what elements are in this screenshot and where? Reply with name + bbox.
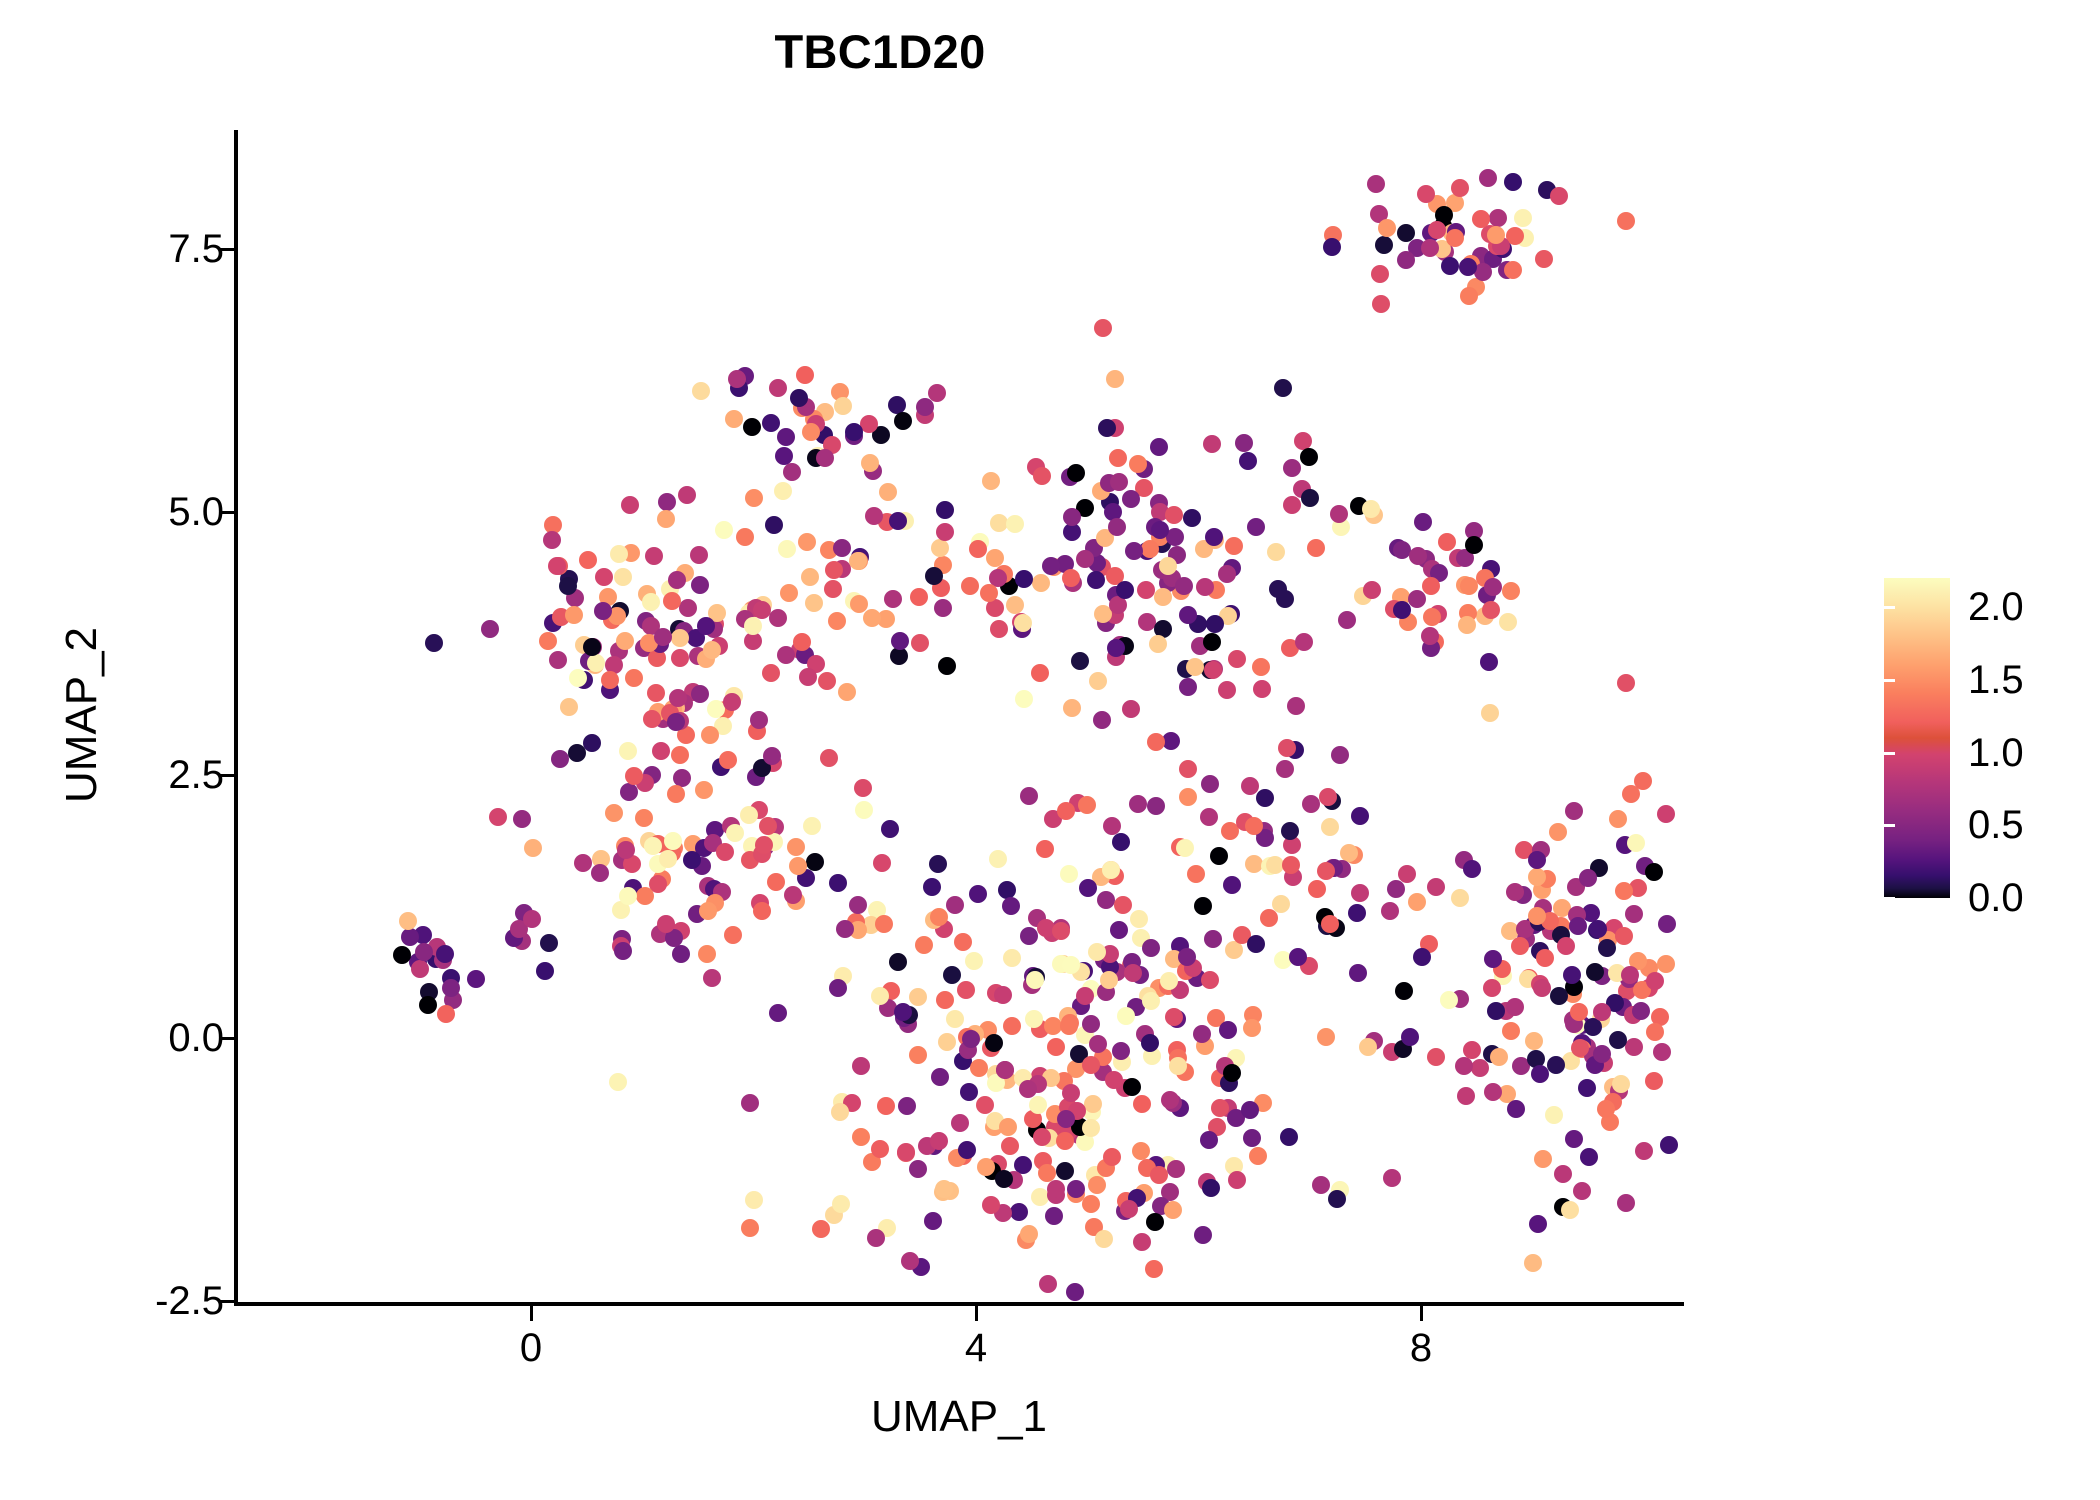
scatter-point (1031, 664, 1049, 682)
scatter-point (1039, 1275, 1057, 1293)
scatter-point (915, 936, 933, 954)
scatter-point (743, 418, 761, 436)
scatter-point (946, 896, 964, 914)
scatter-point (1506, 883, 1524, 901)
x-tick-label: 0 (471, 1326, 591, 1370)
scatter-point (1026, 971, 1044, 989)
scatter-point (1372, 295, 1390, 313)
x-tick-label: 4 (916, 1326, 1036, 1370)
scatter-point (836, 920, 854, 938)
scatter-point (998, 881, 1016, 899)
colorbar-tick-label: 0.0 (1968, 878, 2024, 918)
scatter-point (647, 684, 665, 702)
scatter-point (1528, 907, 1546, 925)
scatter-point (799, 668, 817, 686)
scatter-point (667, 785, 685, 803)
scatter-point (1625, 905, 1643, 923)
scatter-point (523, 910, 541, 928)
scatter-point (999, 1118, 1017, 1136)
scatter-point (855, 801, 873, 819)
scatter-point (1351, 807, 1369, 825)
scatter-point (976, 1096, 994, 1114)
scatter-point (1621, 966, 1639, 984)
scatter-point (1123, 1078, 1141, 1096)
scatter-point (774, 482, 792, 500)
scatter-point (798, 533, 816, 551)
scatter-point (1201, 775, 1219, 793)
scatter-point (1457, 1087, 1475, 1105)
scatter-point (744, 617, 762, 635)
scatter-point (1528, 851, 1546, 869)
scatter-point (1256, 789, 1274, 807)
scatter-point (1482, 601, 1500, 619)
scatter-point (1175, 577, 1193, 595)
scatter-point (1658, 915, 1676, 933)
scatter-point (889, 512, 907, 530)
scatter-point (1160, 972, 1178, 990)
scatter-point (1219, 1021, 1237, 1039)
scatter-point (943, 966, 961, 984)
scatter-point (691, 576, 709, 594)
scatter-point (881, 820, 899, 838)
scatter-point (1110, 473, 1128, 491)
scatter-point (936, 991, 954, 1009)
scatter-point (1082, 1119, 1100, 1137)
scatter-point (1317, 862, 1335, 880)
scatter-point (763, 747, 781, 765)
scatter-point (816, 449, 834, 467)
scatter-point (1282, 856, 1300, 874)
scatter-point (1502, 582, 1520, 600)
scatter-point (1020, 1225, 1038, 1243)
colorbar-tick-label: 0.5 (1968, 805, 2024, 845)
scatter-point (1225, 537, 1243, 555)
scatter-point (1031, 1188, 1049, 1206)
scatter-point (871, 1140, 889, 1158)
scatter-point (707, 700, 725, 718)
scatter-point (543, 531, 561, 549)
scatter-point (969, 885, 987, 903)
scatter-point (437, 1005, 455, 1023)
scatter-point (832, 1195, 850, 1213)
scatter-point (1427, 1048, 1445, 1066)
scatter-point (1062, 956, 1080, 974)
scatter-point (1179, 678, 1197, 696)
scatter-point (931, 1068, 949, 1086)
scatter-point (1570, 1003, 1588, 1021)
scatter-point (1657, 955, 1675, 973)
scatter-point (930, 908, 948, 926)
scatter-point (1001, 1137, 1019, 1155)
scatter-point (845, 423, 863, 441)
scatter-point (1056, 1132, 1074, 1150)
scatter-point (965, 952, 983, 970)
scatter-point (787, 838, 805, 856)
scatter-point (1133, 1233, 1151, 1251)
scatter-point (1589, 920, 1607, 938)
scatter-point (399, 912, 417, 930)
scatter-point (664, 832, 682, 850)
scatter-point (1428, 221, 1446, 239)
scatter-point (723, 693, 741, 711)
scatter-point (1387, 880, 1405, 898)
scatter-point (565, 606, 583, 624)
scatter-point (1627, 834, 1645, 852)
scatter-point (1321, 818, 1339, 836)
scatter-point (619, 742, 637, 760)
scatter-point (1408, 893, 1426, 911)
scatter-point (1062, 569, 1080, 587)
scatter-point (990, 620, 1008, 638)
x-tick-mark (1420, 1306, 1423, 1321)
scatter-point (891, 632, 909, 650)
y-axis-label: UMAP_2 (57, 315, 107, 1115)
scatter-point (1245, 855, 1263, 873)
scatter-point (1206, 615, 1224, 633)
scatter-point (1632, 1002, 1650, 1020)
scatter-point (1446, 229, 1464, 247)
x-tick-label: 8 (1361, 1326, 1481, 1370)
scatter-point (1507, 1100, 1525, 1118)
scatter-point (703, 641, 721, 659)
scatter-point (1129, 455, 1147, 473)
scatter-point (1397, 251, 1415, 269)
scatter-point (1554, 1165, 1572, 1183)
scatter-point (1132, 1142, 1150, 1160)
scatter-point (1367, 175, 1385, 193)
scatter-point (635, 809, 653, 827)
scatter-point (1239, 452, 1257, 470)
scatter-point (513, 810, 531, 828)
scatter-point (1169, 1057, 1187, 1075)
scatter-point (923, 878, 941, 896)
scatter-point (1536, 949, 1554, 967)
scatter-point (829, 874, 847, 892)
scatter-point (1038, 1164, 1056, 1182)
scatter-point (1042, 557, 1060, 575)
colorbar-legend: 2.01.51.00.50.0 (1884, 578, 2084, 900)
colorbar-tick-mark (2073, 752, 2084, 755)
scatter-point (1283, 459, 1301, 477)
scatter-point (539, 632, 557, 650)
colorbar-tick-mark (2073, 606, 2084, 609)
scatter-point (1349, 964, 1367, 982)
scatter-point (393, 946, 411, 964)
scatter-point (778, 540, 796, 558)
scatter-point (1484, 950, 1502, 968)
scatter-point (663, 592, 681, 610)
scatter-point (1401, 1028, 1419, 1046)
scatter-point (1414, 513, 1432, 531)
scatter-point (769, 379, 787, 397)
colorbar-tick-label: 1.5 (1968, 660, 2024, 700)
scatter-point (946, 1010, 964, 1028)
scatter-point (609, 1073, 627, 1091)
scatter-point (1302, 795, 1320, 813)
scatter-point (643, 710, 661, 728)
scatter-point (1106, 370, 1124, 388)
scatter-point (935, 1180, 953, 1198)
scatter-point (1112, 833, 1130, 851)
scatter-point (1421, 239, 1439, 257)
y-axis-line (234, 130, 238, 1306)
scatter-point (1281, 822, 1299, 840)
scatter-point (1159, 557, 1177, 575)
scatter-point (1408, 590, 1426, 608)
scatter-point (1025, 1010, 1043, 1028)
scatter-point (1015, 690, 1033, 708)
scatter-point (1421, 627, 1439, 645)
scatter-point (861, 454, 879, 472)
scatter-point (1657, 805, 1675, 823)
scatter-point (728, 370, 746, 388)
scatter-point (1524, 1254, 1542, 1272)
scatter-point (1617, 1194, 1635, 1212)
scatter-point (1196, 578, 1214, 596)
scatter-point (1029, 1096, 1047, 1114)
scatter-point (559, 577, 577, 595)
colorbar-tick-label: 1.0 (1968, 733, 2024, 773)
scatter-point (1557, 937, 1575, 955)
scatter-point (568, 744, 586, 762)
scatter-point (1047, 1180, 1065, 1198)
scatter-point (1125, 542, 1143, 560)
scatter-point (657, 510, 675, 528)
scatter-point (1504, 173, 1522, 191)
scatter-point (1612, 1075, 1630, 1093)
scatter-point (658, 493, 676, 511)
scatter-point (1218, 565, 1236, 583)
scatter-point (1490, 1048, 1508, 1066)
scatter-point (1312, 1176, 1330, 1194)
scatter-point (1317, 1028, 1335, 1046)
scatter-point (540, 934, 558, 952)
scatter-point (1484, 1083, 1502, 1101)
scatter-point (594, 602, 612, 620)
scatter-point (1149, 635, 1167, 653)
scatter-point (621, 496, 639, 514)
scatter-point (1465, 536, 1483, 554)
colorbar-tick-mark (2073, 897, 2084, 900)
scatter-point (1062, 1084, 1080, 1102)
scatter-point (1019, 1080, 1037, 1098)
scatter-point (1097, 891, 1115, 909)
scatter-point (1276, 760, 1294, 778)
scatter-point (1563, 966, 1581, 984)
scatter-point (690, 546, 708, 564)
scatter-point (1200, 808, 1218, 826)
scatter-point (1228, 1171, 1246, 1189)
scatter-point (759, 817, 777, 835)
scatter-point (805, 594, 823, 612)
scatter-point (583, 638, 601, 656)
scatter-point (1204, 661, 1222, 679)
scatter-point (745, 489, 763, 507)
scatter-point (1535, 250, 1553, 268)
scatter-point (852, 1057, 870, 1075)
scatter-point (1243, 1019, 1261, 1037)
scatter-point (740, 806, 758, 824)
scatter-point (579, 551, 597, 569)
scatter-point (1308, 880, 1326, 898)
scatter-point (762, 414, 780, 432)
scatter-point (560, 698, 578, 716)
scatter-point (867, 1229, 885, 1247)
scatter-point (1150, 1166, 1168, 1184)
scatter-point (806, 853, 824, 871)
scatter-point (1481, 704, 1499, 722)
scatter-point (1502, 1022, 1520, 1040)
chart-canvas: TBC1D20 -2.50.02.55.07.5 048 UMAP_1 UMAP… (0, 0, 2100, 1500)
scatter-point (1194, 1226, 1212, 1244)
scatter-point (701, 726, 719, 744)
scatter-point (1580, 1148, 1598, 1166)
scatter-point (1095, 1230, 1113, 1248)
scatter-point (1472, 210, 1490, 228)
scatter-point (1280, 1128, 1298, 1146)
scatter-point (1294, 432, 1312, 450)
scatter-point (1218, 681, 1236, 699)
scatter-point (828, 612, 846, 630)
scatter-point (1186, 658, 1204, 676)
scatter-point (1487, 226, 1505, 244)
scatter-point (909, 988, 927, 1006)
scatter-point (1033, 1128, 1051, 1146)
scatter-point (1338, 611, 1356, 629)
scatter-point (1529, 1215, 1547, 1233)
scatter-point (1375, 236, 1393, 254)
scatter-point (1116, 581, 1134, 599)
scatter-point (1249, 1147, 1267, 1165)
scatter-point (901, 1252, 919, 1270)
scatter-point (1166, 528, 1184, 546)
scatter-point (1161, 1091, 1179, 1109)
scatter-point (1036, 840, 1054, 858)
scatter-point (934, 599, 952, 617)
colorbar-tick-mark (2073, 679, 2084, 682)
scatter-point (769, 1004, 787, 1022)
scatter-point (1427, 878, 1445, 896)
scatter-point (1245, 817, 1263, 835)
scatter-point (614, 568, 632, 586)
scatter-point (654, 628, 672, 646)
scatter-point (1586, 963, 1604, 981)
scatter-point (780, 584, 798, 602)
x-axis-line (234, 1302, 1684, 1306)
scatter-point (744, 632, 762, 650)
scatter-point (679, 599, 697, 617)
scatter-point (1179, 760, 1197, 778)
colorbar-tick-mark (1884, 897, 1895, 900)
scatter-point (1625, 1038, 1643, 1056)
scatter-point (802, 423, 820, 441)
scatter-point (1088, 1176, 1106, 1194)
scatter-point (1393, 541, 1411, 559)
scatter-point (1545, 1106, 1563, 1124)
scatter-point (1609, 1031, 1627, 1049)
scatter-point (1550, 187, 1568, 205)
scatter-point (790, 389, 808, 407)
scatter-point (668, 571, 686, 589)
colorbar-tick-mark (1884, 606, 1895, 609)
scatter-point (1504, 261, 1522, 279)
scatter-point (1241, 777, 1259, 795)
scatter-point (1165, 1008, 1183, 1026)
scatter-point (849, 552, 867, 570)
scatter-point (825, 561, 843, 579)
scatter-point (753, 902, 771, 920)
scatter-point (1506, 998, 1524, 1016)
scatter-point (1274, 379, 1292, 397)
scatter-point (1561, 1201, 1579, 1219)
scatter-point (645, 547, 663, 565)
scatter-point (1103, 1148, 1121, 1166)
scatter-point (425, 634, 443, 652)
colorbar-tick-mark (2073, 824, 2084, 827)
scatter-point (1330, 505, 1348, 523)
y-tick-label: 7.5 (84, 229, 224, 269)
scatter-point (1474, 263, 1492, 281)
x-axis-label: UMAP_1 (236, 1392, 1682, 1442)
scatter-point (995, 1170, 1013, 1188)
scatter-point (1615, 927, 1633, 945)
scatter-point (1645, 863, 1663, 881)
scatter-point (1045, 1207, 1063, 1225)
scatter-point (1321, 915, 1339, 933)
scatter-point (884, 590, 902, 608)
scatter-point (1459, 258, 1477, 276)
scatter-point (1571, 1039, 1589, 1057)
scatter-point (838, 683, 856, 701)
scatter-point (1063, 699, 1081, 717)
scatter-point (595, 568, 613, 586)
scatter-point (716, 843, 734, 861)
scatter-point (725, 410, 743, 428)
scatter-point (673, 769, 691, 787)
scatter-point (695, 781, 713, 799)
scatter-point (1565, 1130, 1583, 1148)
scatter-point (1547, 1056, 1565, 1074)
scatter-point (1363, 581, 1381, 599)
scatter-point (1060, 865, 1078, 883)
scatter-point (911, 634, 929, 652)
scatter-point (849, 896, 867, 914)
scatter-point (1534, 1150, 1552, 1168)
scatter-point (1645, 1072, 1663, 1090)
scatter-point (652, 742, 670, 760)
scatter-point (969, 540, 987, 558)
scatter-point (1253, 680, 1271, 698)
scatter-point (1179, 606, 1197, 624)
scatter-point (1615, 882, 1633, 900)
scatter-point (1283, 496, 1301, 514)
scatter-point (989, 850, 1007, 868)
scatter-point (888, 396, 906, 414)
scatter-point (863, 609, 881, 627)
x-tick-mark (530, 1306, 533, 1321)
scatter-point (1441, 257, 1459, 275)
scatter-point (1020, 787, 1038, 805)
scatter-point (1003, 1017, 1021, 1035)
scatter-point (1088, 943, 1106, 961)
scatter-point (1348, 904, 1366, 922)
scatter-point (1200, 1131, 1218, 1149)
scatter-point (1142, 939, 1160, 957)
scatter-point (1393, 601, 1411, 619)
scatter-point (1617, 212, 1635, 230)
scatter-point (1087, 571, 1105, 589)
scatter-point (936, 501, 954, 519)
